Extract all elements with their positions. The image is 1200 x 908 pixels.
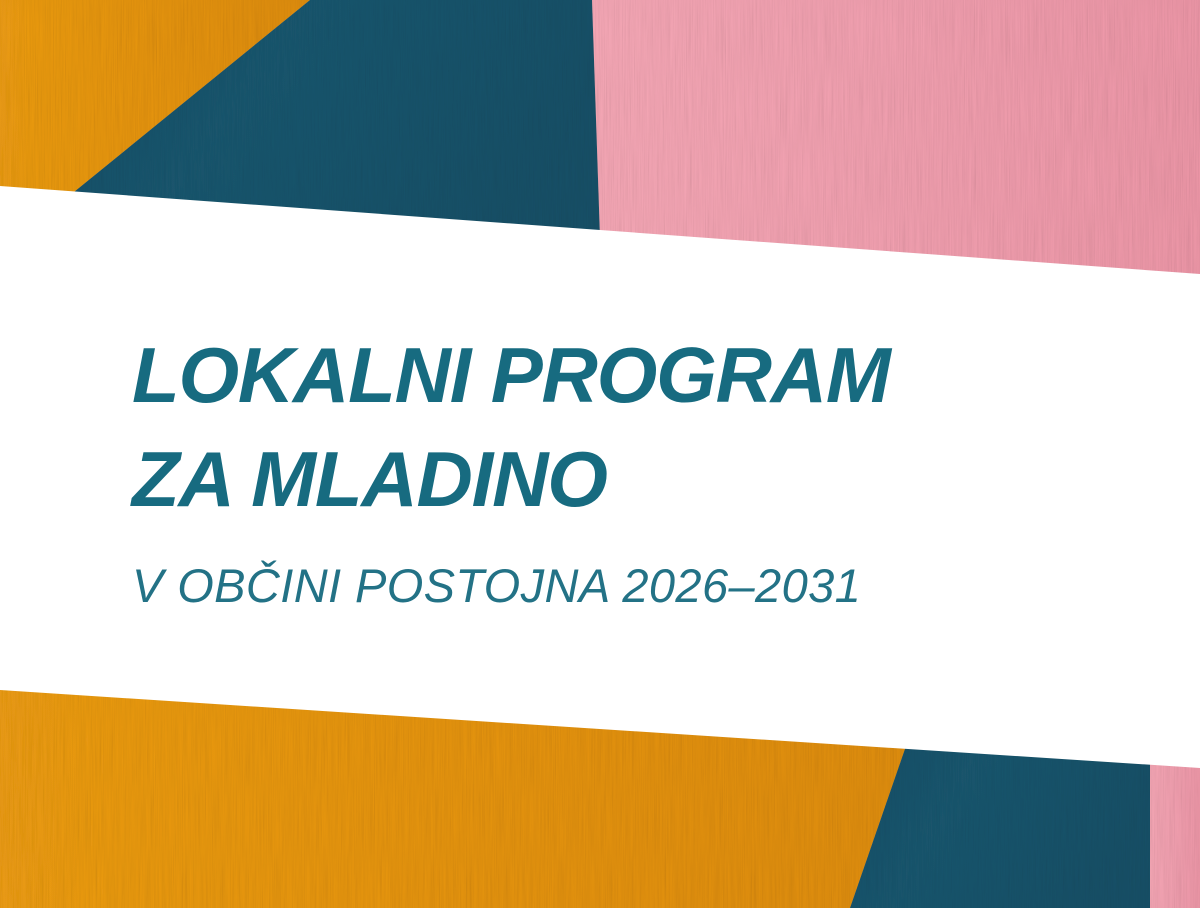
top-band-artwork	[0, 0, 1200, 278]
pink-panel-top-right	[586, 0, 1200, 278]
cover-text-block: LOKALNI PROGRAM ZA MLADINO V OBČINI POST…	[132, 336, 1132, 609]
cover-page: LOKALNI PROGRAM ZA MLADINO V OBČINI POST…	[0, 0, 1200, 908]
page-title-line-2: ZA MLADINO	[132, 440, 1132, 518]
orange-wedge-bottom-left	[0, 688, 906, 908]
pink-panel-bottom-right	[1146, 762, 1200, 908]
bottom-band-artwork	[0, 688, 1200, 908]
page-title-line-1: LOKALNI PROGRAM	[132, 336, 1132, 414]
page-subtitle: V OBČINI POSTOJNA 2026–2031	[132, 562, 1132, 609]
